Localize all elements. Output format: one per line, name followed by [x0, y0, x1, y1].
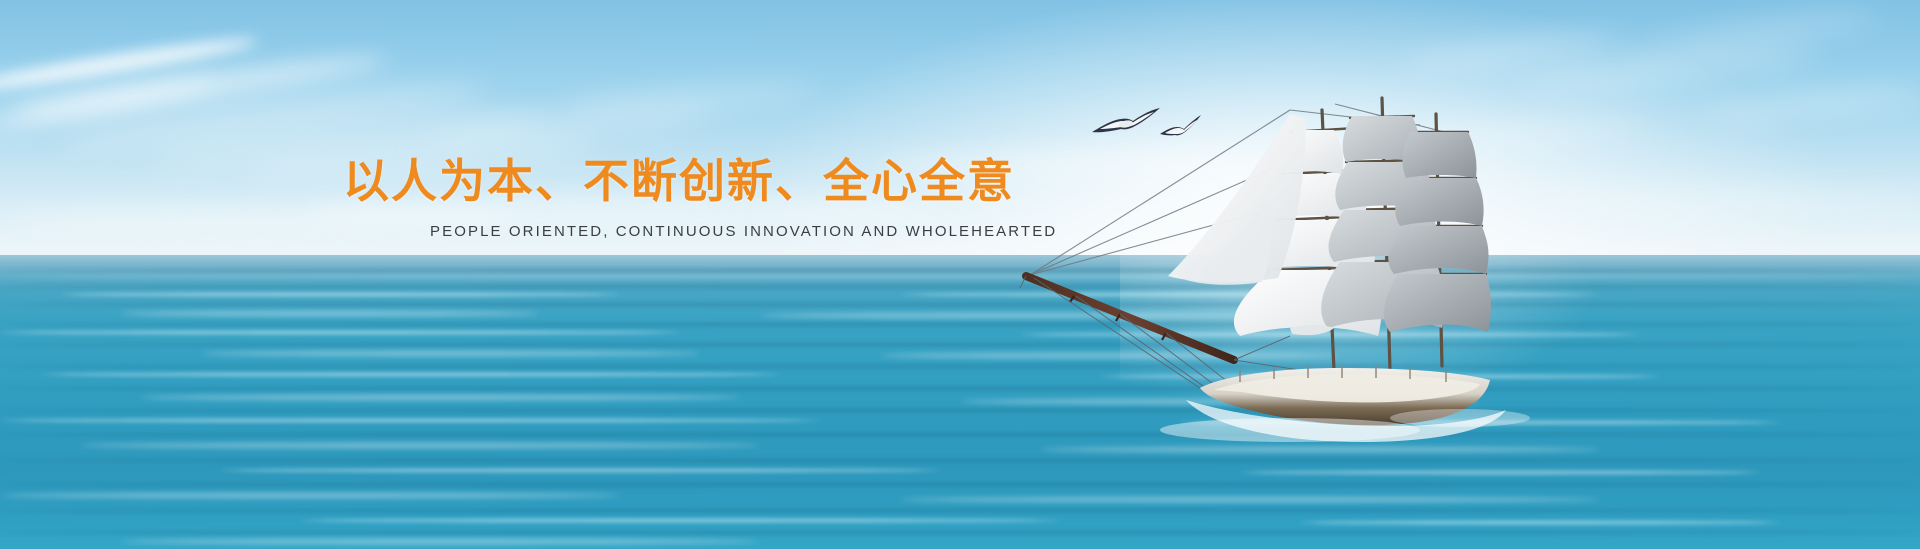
sea-background — [0, 255, 1920, 549]
bowsprit — [1026, 276, 1234, 360]
tall-sailing-ship — [990, 70, 1520, 440]
seagull-large — [1090, 102, 1162, 144]
subheadline-english: PEOPLE ORIENTED, CONTINUOUS INNOVATION A… — [430, 224, 1057, 239]
seagull-small — [1158, 112, 1202, 142]
headline-chinese: 以人为本、不断创新、全心全意 — [343, 158, 1015, 204]
hero-banner: 以人为本、不断创新、全心全意 PEOPLE ORIENTED, CONTINUO… — [0, 0, 1920, 549]
